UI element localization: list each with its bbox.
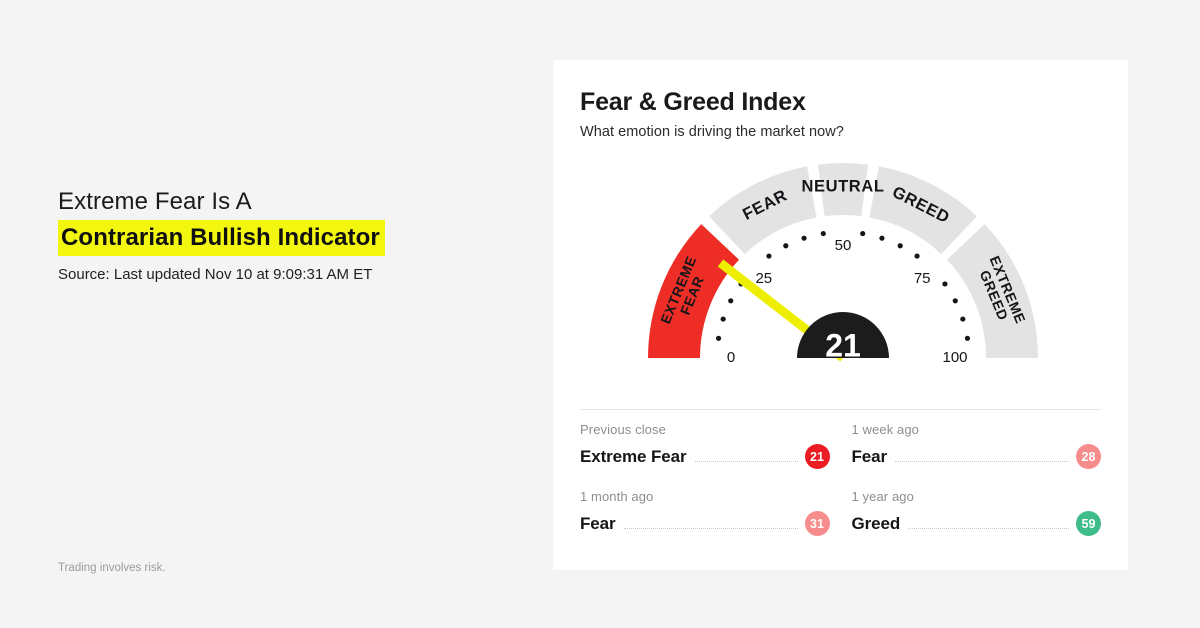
gauge-hub-value: 21 (797, 312, 889, 363)
gauge-minor-tick (766, 253, 771, 258)
gauge-minor-tick (898, 243, 903, 248)
gauge-minor-tick (783, 243, 788, 248)
stat-row: Extreme Fear 21 (580, 444, 830, 469)
card-header: Fear & Greed Index What emotion is drivi… (553, 60, 1128, 140)
stat-badge: 28 (1076, 444, 1101, 469)
gauge-minor-tick (860, 231, 865, 236)
gauge-minor-tick (953, 298, 958, 303)
stat-dot-leader (695, 460, 798, 462)
source-line: Source: Last updated Nov 10 at 9:09:31 A… (58, 266, 372, 283)
card-subtitle: What emotion is driving the market now? (580, 124, 1128, 140)
stat-previous-close: Previous close Extreme Fear 21 (580, 422, 830, 469)
stat-label: Fear (580, 514, 616, 534)
gauge-minor-tick (942, 281, 947, 286)
fear-greed-card: Fear & Greed Index What emotion is drivi… (553, 60, 1128, 570)
gauge-minor-tick (728, 298, 733, 303)
disclaimer-text: Trading involves risk. (58, 562, 166, 574)
stat-badge: 59 (1076, 511, 1101, 536)
stat-row: Fear 31 (580, 511, 830, 536)
stat-one-year-ago: 1 year ago Greed 59 (852, 489, 1102, 536)
stat-dot-leader (908, 527, 1069, 529)
gauge-tick-label: 100 (942, 349, 967, 366)
stat-dot-leader (895, 460, 1069, 462)
headline-line-2-highlighted: Contrarian Bullish Indicator (58, 220, 385, 256)
stat-label: Greed (852, 514, 901, 534)
stat-row: Greed 59 (852, 511, 1102, 536)
stat-badge: 31 (805, 511, 830, 536)
stats-divider (580, 409, 1101, 410)
stat-label: Fear (852, 447, 888, 467)
gauge-minor-tick (879, 236, 884, 241)
stat-badge: 21 (805, 444, 830, 469)
gauge-tick-label: 0 (727, 349, 735, 366)
gauge-minor-tick (801, 236, 806, 241)
gauge-minor-tick (821, 231, 826, 236)
stat-period: 1 year ago (852, 489, 1102, 504)
gauge-minor-tick (716, 336, 721, 341)
stat-dot-leader (624, 527, 798, 529)
gauge-minor-tick (914, 253, 919, 258)
stat-one-week-ago: 1 week ago Fear 28 (852, 422, 1102, 469)
stat-label: Extreme Fear (580, 447, 687, 467)
stat-one-month-ago: 1 month ago Fear 31 (580, 489, 830, 536)
card-title: Fear & Greed Index (580, 88, 1128, 117)
headline-line-1: Extreme Fear Is A (58, 186, 518, 217)
gauge-tick-label: 75 (914, 270, 931, 287)
gauge-value-text: 21 (825, 327, 861, 363)
stat-period: 1 month ago (580, 489, 830, 504)
stats-grid: Previous close Extreme Fear 21 1 week ag… (580, 422, 1101, 536)
gauge-tick-label: 25 (755, 270, 772, 287)
gauge-minor-tick (721, 316, 726, 321)
gauge-tick-label: 50 (835, 237, 852, 254)
gauge-band-label: NEUTRAL (801, 177, 884, 195)
stat-period: 1 week ago (852, 422, 1102, 437)
headline-block: Extreme Fear Is A Contrarian Bullish Ind… (58, 186, 518, 256)
gauge-svg: EXTREMEFEARFEARNEUTRALGREEDEXTREMEGREED … (553, 160, 1128, 410)
gauge-minor-tick (960, 316, 965, 321)
stat-row: Fear 28 (852, 444, 1102, 469)
stat-period: Previous close (580, 422, 830, 437)
gauge-chart: EXTREMEFEARFEARNEUTRALGREEDEXTREMEGREED … (553, 160, 1128, 410)
gauge-minor-tick (965, 336, 970, 341)
left-panel: Extreme Fear Is A Contrarian Bullish Ind… (0, 0, 553, 628)
